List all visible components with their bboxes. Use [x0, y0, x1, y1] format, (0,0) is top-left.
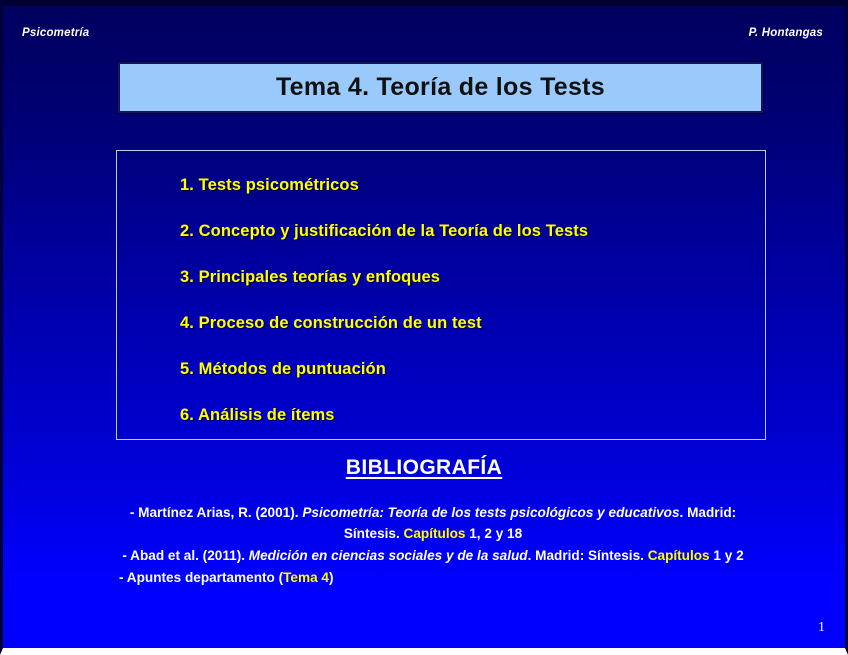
contents-outline-box: 1. Tests psicométricos 2. Concepto y jus… [116, 150, 766, 440]
reference-chapters-label: Capítulos [404, 526, 466, 541]
header-author-label: P. Hontangas [749, 27, 823, 39]
bibliography-reference: - Abad et al. (2011). Medición en cienci… [115, 545, 751, 566]
bibliography-body: - Martínez Arias, R. (2001). Psicometría… [115, 502, 751, 589]
reference-source: - Apuntes departamento ( [119, 570, 283, 585]
bibliography-reference: - Martínez Arias, R. (2001). Psicometría… [115, 502, 751, 544]
slide-title-box: Tema 4. Teoría de los Tests [118, 62, 763, 113]
list-item: 4. Proceso de construcción de un test [117, 307, 765, 339]
reference-close-paren: ) [329, 570, 334, 585]
list-item: 6. Análisis de ítems [117, 399, 765, 431]
reference-title: Psicometría: Teoría de los tests psicoló… [302, 505, 679, 520]
list-item: 5. Métodos de puntuación [117, 353, 765, 385]
header-course-label: Psicometría [22, 27, 89, 39]
slide-title: Tema 4. Teoría de los Tests [276, 73, 605, 102]
reference-authors-year: - Abad et al. (2011). [122, 548, 248, 563]
list-item: 1. Tests psicométricos [117, 169, 765, 201]
list-item: 3. Principales teorías y enfoques [117, 261, 765, 293]
reference-chapters-value: 1, 2 y 18 [465, 526, 522, 541]
reference-authors-year: - Martínez Arias, R. (2001). [130, 505, 303, 520]
list-item: 2. Concepto y justificación de la Teoría… [117, 215, 765, 247]
reference-title: Medición en ciencias sociales y de la sa… [249, 548, 528, 563]
bibliography-reference: - Apuntes departamento (Tema 4) [115, 567, 751, 588]
contents-list: 1. Tests psicométricos 2. Concepto y jus… [117, 169, 765, 431]
page-number: 1 [818, 620, 825, 636]
reference-publisher: . Madrid: Síntesis. [528, 548, 648, 563]
bibliography-heading: BIBLIOGRAFÍA [3, 456, 845, 480]
reference-topic-label: Tema 4 [283, 570, 329, 585]
slide: Psicometría P. Hontangas Tema 4. Teoría … [0, 0, 848, 655]
reference-chapters-label: Capítulos [648, 548, 710, 563]
reference-chapters-value: 1 y 2 [710, 548, 744, 563]
